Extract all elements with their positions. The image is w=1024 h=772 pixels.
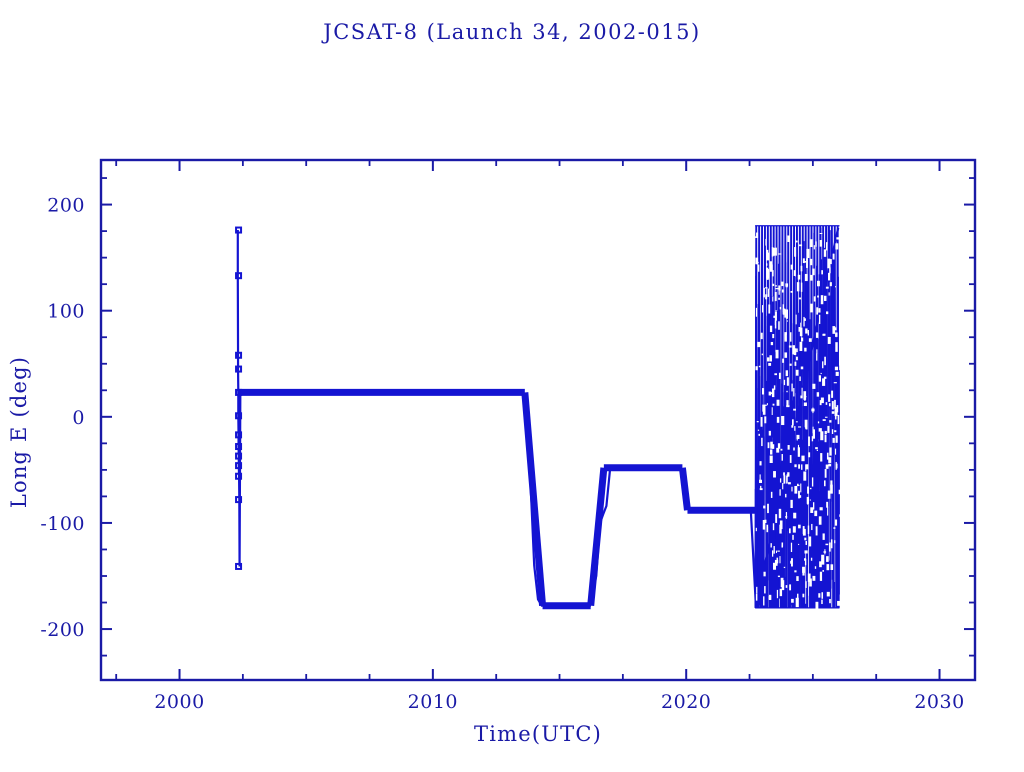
drift-gap-speckle: [764, 586, 766, 593]
drift-gap-speckle: [819, 516, 822, 524]
drift-gap-speckle: [776, 350, 779, 359]
drift-gap-speckle: [816, 354, 817, 361]
drift-gap-speckle: [756, 587, 757, 594]
drift-gap-speckle: [826, 287, 829, 289]
drift-gap-speckle: [831, 564, 834, 570]
drift-gap-speckle: [779, 556, 780, 563]
drift-gap-speckle: [825, 431, 827, 434]
drift-gap-speckle: [780, 478, 781, 482]
drift-gap-speckle: [784, 380, 785, 385]
drift-gap-speckle: [757, 342, 760, 347]
drift-gap-speckle: [815, 566, 816, 569]
drift-gap-speckle: [769, 431, 771, 436]
drift-gap-speckle: [806, 541, 808, 545]
drift-gap-speckle: [837, 601, 840, 606]
drift-gap-speckle: [804, 348, 806, 352]
drift-gap-speckle: [764, 416, 766, 423]
drift-gap-speckle: [767, 357, 769, 361]
drift-gap-speckle: [770, 266, 772, 270]
drift-gap-speckle: [759, 480, 762, 483]
drift-gap-speckle: [786, 391, 787, 392]
drift-gap-speckle: [756, 308, 757, 317]
drift-gap-speckle: [827, 453, 829, 460]
drift-gap-speckle: [776, 288, 779, 289]
drift-gap-speckle: [779, 253, 782, 254]
drift-gap-speckle: [835, 342, 837, 352]
drift-gap-speckle: [832, 326, 835, 334]
drift-gap-speckle: [761, 438, 762, 446]
drift-gap-speckle: [781, 282, 783, 286]
drift-gap-speckle: [760, 486, 761, 489]
drift-gap-speckle: [812, 477, 813, 486]
drift-gap-speckle: [768, 363, 771, 366]
drift-gap-speckle: [822, 334, 825, 336]
drift-gap-speckle: [798, 445, 799, 453]
drift-gap-speckle: [816, 349, 817, 354]
drift-gap-speckle: [821, 398, 824, 404]
drift-gap-speckle: [784, 567, 785, 568]
drift-gap-speckle: [826, 242, 827, 250]
drift-gap-speckle: [809, 536, 812, 546]
drift-gap-speckle: [806, 258, 808, 268]
drift-gap-speckle: [755, 366, 757, 370]
drift-gap-speckle: [784, 352, 787, 357]
drift-gap-speckle: [834, 382, 837, 383]
drift-gap-speckle: [786, 309, 788, 318]
drift-gap-speckle: [786, 585, 788, 588]
drift-gap-speckle: [829, 542, 831, 551]
drift-gap-speckle: [789, 584, 791, 590]
drift-gap-speckle: [789, 528, 791, 533]
drift-gap-speckle: [822, 361, 823, 368]
drift-gap-speckle: [834, 540, 835, 543]
y-tick-label: -100: [40, 513, 85, 535]
drift-gap-speckle: [762, 388, 764, 394]
drift-gap-speckle: [796, 348, 798, 352]
drift-gap-speckle: [829, 292, 830, 295]
drift-gap-speckle: [793, 513, 796, 519]
drift-gap-speckle: [804, 538, 806, 541]
drift-gap-speckle: [777, 590, 778, 598]
drift-gap-speckle: [776, 551, 777, 553]
drift-gap-speckle: [771, 342, 773, 345]
drift-gap-speckle: [836, 464, 838, 469]
drift-gap-speckle: [823, 419, 826, 421]
drift-gap-speckle: [807, 487, 809, 494]
drift-gap-speckle: [772, 407, 773, 415]
drift-gap-speckle: [839, 490, 841, 494]
drift-gap-speckle: [785, 494, 787, 498]
drift-gap-speckle: [769, 392, 772, 396]
drift-gap-speckle: [782, 483, 783, 489]
drift-gap-speckle: [826, 465, 829, 469]
drift-gap-speckle: [777, 417, 780, 423]
drift-gap-speckle: [759, 461, 761, 465]
drift-gap-speckle: [761, 417, 763, 427]
drift-gap-speckle: [817, 296, 819, 298]
drift-gap-speckle: [825, 417, 828, 418]
drift-gap-speckle: [821, 592, 823, 599]
drift-gap-speckle: [817, 392, 819, 396]
drift-gap-speckle: [799, 298, 801, 300]
drift-gap-speckle: [800, 396, 802, 399]
drift-gap-speckle: [786, 284, 788, 288]
drift-gap-speckle: [772, 270, 773, 276]
drift-gap-speckle: [818, 308, 820, 312]
drift-gap-speckle: [787, 377, 789, 385]
drift-gap-speckle: [786, 370, 788, 376]
drift-gap-speckle: [796, 241, 798, 243]
drift-gap-speckle: [771, 543, 772, 547]
drift-gap-speckle: [802, 567, 805, 573]
drift-gap-speckle: [812, 384, 815, 389]
drift-gap-speckle: [805, 328, 807, 333]
drift-gap-speckle: [768, 442, 770, 448]
drift-gap-speckle: [772, 296, 773, 301]
drift-gap-speckle: [767, 403, 768, 405]
y-tick-label: -200: [40, 619, 85, 641]
drift-gap-speckle: [836, 436, 838, 443]
drift-gap-speckle: [805, 465, 806, 471]
drift-gap-speckle: [824, 549, 825, 554]
drift-gap-speckle: [791, 543, 792, 552]
drift-gap-speckle: [778, 285, 780, 290]
drift-gap-speckle: [820, 431, 823, 440]
drift-gap-speckle: [779, 525, 781, 534]
drift-gap-speckle: [763, 596, 764, 605]
drift-gap-speckle: [828, 464, 831, 467]
drift-gap-speckle: [800, 323, 801, 327]
drift-gap-speckle: [816, 332, 818, 337]
drift-gap-speckle: [827, 426, 829, 433]
drift-gap-speckle: [758, 430, 759, 431]
drift-gap-speckle: [774, 546, 775, 554]
drift-gap-speckle: [784, 334, 785, 340]
chart-title: JCSAT-8 (Launch 34, 2002-015): [321, 20, 700, 44]
drift-gap-speckle: [820, 240, 822, 247]
drift-gap-speckle: [786, 476, 788, 484]
y-tick-label: 0: [72, 407, 85, 429]
drift-gap-speckle: [814, 296, 816, 301]
drift-gap-speckle: [800, 328, 803, 337]
drift-gap-speckle: [815, 602, 818, 611]
drift-gap-speckle: [805, 581, 806, 588]
drift-gap-speckle: [828, 394, 830, 402]
drift-gap-speckle: [829, 599, 831, 603]
drift-gap-speckle: [803, 261, 806, 263]
drift-gap-speckle: [782, 289, 783, 292]
drift-gap-speckle: [810, 507, 813, 513]
drift-gap-speckle: [770, 261, 772, 266]
drift-gap-speckle: [821, 600, 822, 604]
y-tick-label: 200: [47, 195, 85, 217]
longitude-vs-time-chart: JCSAT-8 (Launch 34, 2002-015) 2000201020…: [0, 0, 1024, 768]
drift-gap-speckle: [824, 377, 827, 379]
drift-gap-speckle: [827, 507, 828, 516]
drift-gap-speckle: [805, 420, 808, 428]
drift-gap-speckle: [826, 311, 828, 314]
drift-gap-speckle: [808, 526, 809, 534]
drift-gap-speckle: [821, 559, 823, 563]
drift-gap-speckle: [762, 305, 763, 312]
drift-gap-speckle: [777, 400, 780, 406]
drift-gap-speckle: [810, 239, 813, 247]
drift-gap-speckle: [772, 334, 774, 338]
drift-gap-speckle: [823, 533, 825, 539]
drift-gap-speckle: [778, 321, 780, 329]
drift-gap-speckle: [822, 570, 824, 572]
drift-gap-speckle: [815, 447, 818, 449]
drift-gap-speckle: [791, 265, 793, 270]
drift-gap-speckle: [781, 578, 784, 587]
drift-gap-speckle: [830, 485, 833, 494]
drift-gap-speckle: [798, 426, 801, 427]
y-axis-label: Long E (deg): [7, 356, 31, 508]
drift-gap-speckle: [801, 338, 803, 342]
drift-gap-speckle: [828, 273, 830, 281]
drift-gap-speckle: [819, 315, 820, 324]
drift-gap-speckle: [801, 464, 802, 469]
drift-gap-speckle: [804, 402, 807, 406]
drift-gap-speckle: [791, 425, 793, 427]
drift-gap-speckle: [786, 320, 787, 322]
drift-gap-speckle: [763, 572, 765, 577]
drift-gap-speckle: [812, 576, 815, 581]
drift-gap-speckle: [781, 416, 784, 425]
drift-gap-speckle: [821, 295, 824, 304]
drift-gap-speckle: [758, 434, 760, 436]
drift-gap-speckle: [810, 275, 812, 281]
chart-background: [0, 0, 1024, 768]
drift-gap-speckle: [826, 402, 828, 405]
drift-gap-speckle: [787, 235, 789, 242]
drift-gap-speckle: [811, 558, 812, 561]
drift-gap-speckle: [801, 367, 803, 370]
drift-gap-speckle: [776, 448, 779, 453]
drift-gap-speckle: [805, 559, 806, 565]
drift-gap-speckle: [809, 578, 812, 586]
drift-gap-speckle: [825, 434, 827, 442]
drift-gap-speckle: [772, 389, 774, 398]
drift-gap-speckle: [794, 426, 795, 431]
drift-gap-speckle: [765, 239, 766, 246]
drift-gap-speckle: [814, 245, 815, 249]
drift-gap-speckle: [793, 388, 794, 396]
drift-gap-speckle: [800, 484, 801, 493]
drift-gap-speckle: [803, 391, 806, 400]
y-tick-label: 100: [47, 301, 85, 323]
drift-gap-speckle: [793, 409, 796, 411]
drift-gap-speckle: [766, 268, 768, 272]
drift-gap-speckle: [831, 539, 833, 548]
drift-gap-speckle: [812, 408, 813, 414]
drift-gap-speckle: [799, 244, 802, 246]
drift-gap-speckle: [829, 259, 832, 264]
drift-gap-speckle: [764, 405, 766, 406]
drift-gap-speckle: [774, 373, 777, 375]
drift-gap-speckle: [759, 366, 761, 367]
drift-gap-speckle: [833, 438, 835, 443]
drift-gap-speckle: [794, 270, 796, 276]
drift-gap-speckle: [797, 437, 798, 441]
drift-gap-speckle: [790, 500, 792, 508]
drift-gap-speckle: [775, 285, 777, 286]
drift-gap-speckle: [834, 430, 836, 432]
drift-gap-speckle: [835, 327, 837, 330]
drift-gap-speckle: [794, 486, 797, 494]
drift-gap-speckle: [817, 281, 820, 286]
drift-gap-speckle: [828, 491, 831, 499]
drift-gap-speckle: [805, 274, 808, 281]
drift-gap-speckle: [770, 442, 773, 449]
drift-gap-speckle: [783, 304, 784, 312]
drift-gap-speckle: [779, 509, 781, 518]
drift-gap-speckle: [810, 488, 812, 489]
drift-gap-speckle: [762, 354, 763, 356]
drift-gap-speckle: [799, 376, 800, 381]
drift-gap-speckle: [833, 527, 835, 529]
drift-gap-speckle: [829, 403, 831, 406]
x-tick-label: 2010: [408, 691, 458, 713]
drift-gap-speckle: [820, 572, 822, 581]
drift-gap-speckle: [789, 364, 791, 366]
drift-gap-speckle: [820, 453, 822, 461]
drift-gap-speckle: [834, 400, 836, 409]
drift-gap-speckle: [819, 375, 821, 381]
drift-gap-speckle: [766, 263, 767, 266]
drift-gap-speckle: [801, 283, 802, 292]
drift-gap-speckle: [838, 415, 840, 424]
drift-gap-speckle: [820, 233, 823, 234]
drift-gap-speckle: [798, 464, 800, 468]
drift-gap-speckle: [773, 316, 775, 318]
drift-gap-speckle: [796, 370, 799, 376]
drift-gap-speckle: [800, 342, 803, 351]
drift-gap-speckle: [765, 294, 767, 299]
drift-gap-speckle: [788, 482, 791, 484]
drift-gap-speckle: [835, 332, 837, 336]
drift-gap-speckle: [767, 276, 769, 280]
drift-gap-speckle: [836, 237, 839, 239]
drift-gap-speckle: [821, 373, 822, 374]
drift-gap-speckle: [798, 275, 800, 280]
drift-gap-speckle: [808, 330, 809, 335]
drift-gap-speckle: [796, 598, 799, 607]
drift-gap-speckle: [767, 250, 769, 259]
drift-gap-speckle: [792, 535, 794, 540]
drift-gap-speckle: [782, 454, 783, 461]
drift-gap-speckle: [792, 419, 794, 425]
drift-gap-speckle: [835, 243, 838, 249]
drift-gap-speckle: [801, 266, 803, 272]
drift-gap-speckle: [819, 428, 822, 431]
drift-gap-speckle: [789, 345, 792, 347]
drift-gap-speckle: [801, 456, 804, 462]
drift-gap-speckle: [824, 480, 826, 486]
x-axis-label: Time(UTC): [474, 722, 602, 746]
drift-gap-speckle: [791, 487, 792, 492]
drift-gap-speckle: [804, 318, 806, 321]
drift-gap-speckle: [791, 599, 794, 603]
drift-gap-speckle: [825, 544, 828, 546]
drift-gap-speckle: [791, 291, 793, 293]
drift-gap-speckle: [797, 484, 799, 486]
drift-gap-speckle: [796, 357, 798, 361]
drift-gap-speckle: [782, 545, 784, 548]
x-tick-label: 2000: [154, 691, 204, 713]
drift-gap-speckle: [822, 378, 825, 386]
drift-gap-speckle: [798, 525, 801, 529]
drift-gap-speckle: [795, 362, 797, 366]
drift-gap-speckle: [756, 233, 758, 238]
drift-gap-speckle: [824, 249, 826, 256]
chart-container: JCSAT-8 (Launch 34, 2002-015) 2000201020…: [0, 0, 1024, 768]
drift-gap-speckle: [825, 469, 827, 478]
drift-gap-speckle: [760, 333, 762, 339]
drift-gap-speckle: [770, 456, 773, 463]
drift-band-group: [755, 226, 841, 611]
drift-gap-speckle: [793, 448, 795, 451]
drift-gap-speckle: [796, 315, 797, 325]
drift-gap-speckle: [790, 332, 792, 341]
drift-gap-speckle: [807, 498, 808, 501]
drift-gap-speckle: [808, 436, 810, 446]
drift-gap-speckle: [778, 298, 780, 300]
drift-gap-speckle: [832, 411, 835, 414]
drift-gap-speckle: [816, 526, 818, 535]
drift-gap-speckle: [775, 560, 778, 566]
drift-gap-speckle: [792, 345, 795, 354]
drift-gap-speckle: [833, 254, 835, 260]
drift-gap-speckle: [835, 449, 836, 455]
drift-gap-speckle: [816, 307, 818, 314]
drift-gap-speckle: [821, 270, 823, 274]
drift-gap-speckle: [810, 259, 812, 265]
drift-gap-speckle: [756, 528, 757, 531]
drift-gap-speckle: [767, 504, 769, 513]
drift-gap-speckle: [832, 429, 833, 434]
drift-gap-speckle: [783, 472, 785, 475]
drift-gap-speckle: [773, 471, 776, 477]
drift-gap-speckle: [786, 400, 788, 406]
drift-gap-speckle: [796, 576, 798, 581]
drift-gap-speckle: [829, 420, 831, 422]
drift-gap-speckle: [782, 359, 784, 363]
drift-gap-speckle: [809, 338, 812, 342]
drift-gap-speckle: [810, 304, 812, 313]
drift-gap-speckle: [790, 455, 792, 463]
drift-gap-speckle: [775, 320, 776, 328]
drift-gap-speckle: [773, 404, 775, 406]
drift-gap-speckle: [835, 519, 837, 525]
drift-gap-speckle: [777, 551, 780, 552]
drift-gap-speckle: [779, 489, 780, 495]
drift-gap-speckle: [839, 514, 841, 517]
drift-gap-speckle: [820, 507, 823, 510]
drift-gap-speckle: [794, 247, 796, 257]
drift-gap-speckle: [829, 265, 830, 274]
drift-gap-speckle: [804, 550, 807, 553]
drift-gap-speckle: [828, 337, 831, 344]
drift-gap-speckle: [770, 449, 772, 454]
drift-gap-speckle: [780, 589, 782, 596]
drift-gap-speckle: [828, 457, 831, 463]
drift-gap-speckle: [807, 502, 808, 505]
drift-gap-speckle: [794, 570, 796, 572]
drift-gap-speckle: [769, 595, 771, 600]
drift-gap-speckle: [803, 529, 806, 536]
drift-gap-speckle: [768, 289, 770, 297]
